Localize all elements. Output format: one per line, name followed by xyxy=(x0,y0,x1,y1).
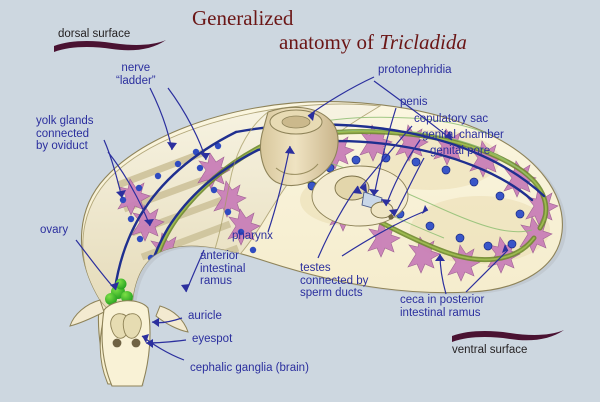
title-line-2: anatomy of Tricladida xyxy=(279,30,467,54)
auricle-right xyxy=(156,306,188,332)
label-eyespot: eyespot xyxy=(192,333,232,346)
title-line-1: Generalized xyxy=(192,6,293,30)
dorsal-surface-label: dorsal surface xyxy=(58,28,130,40)
genital-pore-shape xyxy=(388,214,393,219)
planarian-illustration xyxy=(0,0,600,402)
title-line-2-text: anatomy of xyxy=(279,30,379,54)
label-anterior-intestinal-ramus: anterior intestinal ramus xyxy=(200,250,245,288)
label-nerve-ladder: nerve “ladder” xyxy=(116,62,156,87)
label-pharynx: pharynx xyxy=(232,230,273,243)
label-penis: penis xyxy=(400,96,428,109)
label-ceca-posterior: ceca in posterior intestinal ramus xyxy=(400,294,484,319)
diagram-canvas: Generalized anatomy of Tricladida dorsal… xyxy=(0,0,600,402)
label-testes: testes connected by sperm ducts xyxy=(300,262,368,300)
eyespot-right xyxy=(132,339,141,348)
reproductive-apparatus xyxy=(312,166,408,226)
eyespot-left xyxy=(113,339,122,348)
label-auricle: auricle xyxy=(188,310,222,323)
label-copulatory-sac: copulatory sac xyxy=(414,113,488,126)
label-protonephridia: protonephridia xyxy=(378,64,452,77)
head-shape xyxy=(102,301,150,386)
ventral-surface-label: ventral surface xyxy=(452,344,527,356)
label-ovary: ovary xyxy=(40,224,68,237)
head-region xyxy=(70,300,188,386)
label-cephalic-ganglia: cephalic ganglia (brain) xyxy=(190,362,309,375)
label-genital-chamber: genital chamber xyxy=(422,129,504,142)
label-genital-pore: genital pore xyxy=(430,145,490,158)
label-yolk-glands: yolk glands connected by oviduct xyxy=(36,115,94,153)
title-taxon: Tricladida xyxy=(379,30,467,54)
